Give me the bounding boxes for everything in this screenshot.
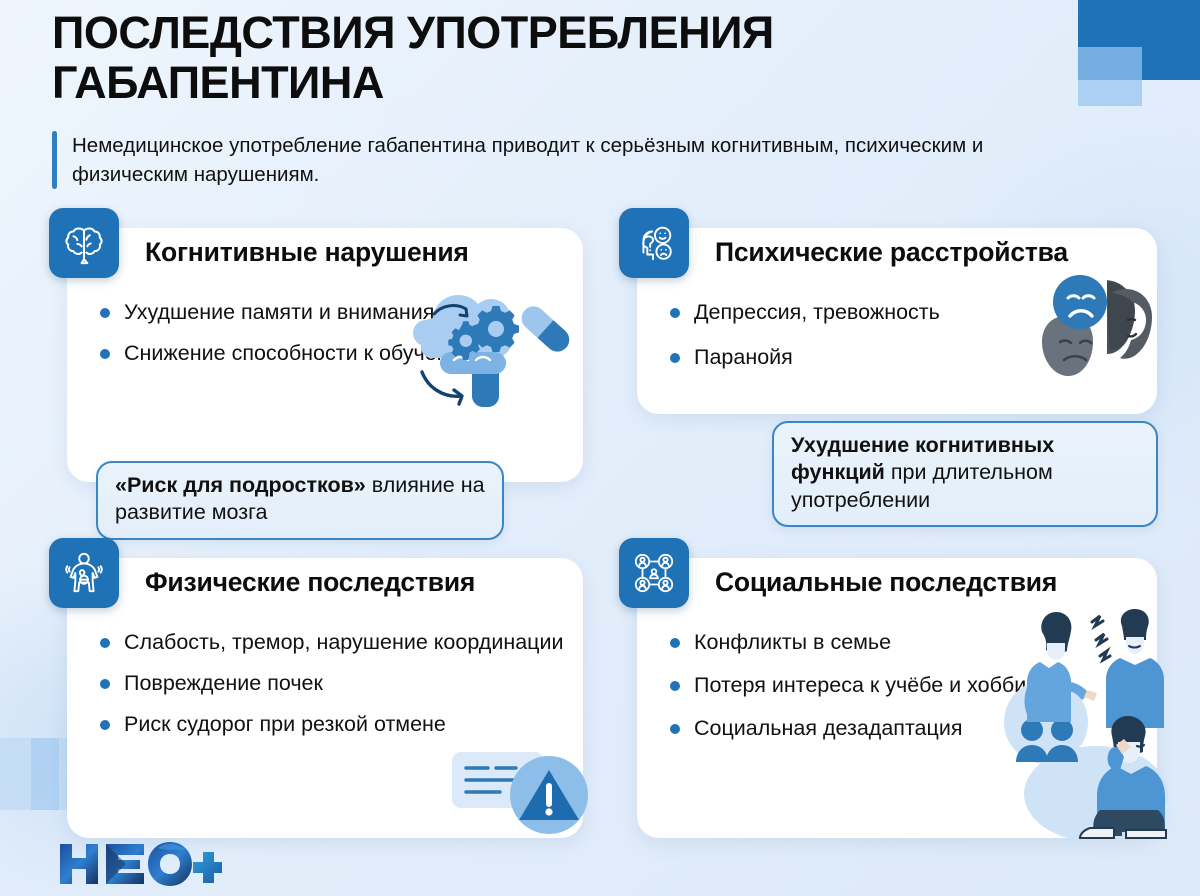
list-item: Конфликты в семье <box>668 628 1143 656</box>
decorative-square-bottom-left-2 <box>31 738 59 810</box>
list-item: Депрессия, тревожность <box>668 298 1143 326</box>
body-organs-icon <box>49 538 119 608</box>
decorative-square-light <box>1078 47 1142 106</box>
card-title: Физические последствия <box>145 567 475 598</box>
bullet-list: Слабость, тремор, нарушение координации … <box>98 628 569 751</box>
card-social-consequences: Социальные последствия Конфликты в семье… <box>637 558 1157 838</box>
page-title: ПОСЛЕДСТВИЯ УПОТРЕБЛЕНИЯ ГАБАПЕНТИНА <box>52 8 1052 109</box>
bullet-list: Ухудшение памяти и внимания Снижение спо… <box>98 298 569 380</box>
subtitle-accent-bar <box>52 131 57 189</box>
card-title: Психические расстройства <box>715 237 1068 268</box>
list-item: Ухудшение памяти и внимания <box>98 298 569 326</box>
list-item: Снижение способности к обучению <box>98 339 569 367</box>
subtitle-text: Немедицинское употребление габапентина п… <box>72 131 1012 189</box>
brain-icon <box>49 208 119 278</box>
callout-cognitive-decline: Ухудшение когнитивных функций при длител… <box>772 421 1158 527</box>
logo-neo-plus <box>58 840 222 888</box>
list-item: Риск судорог при резкой отмене <box>98 710 569 738</box>
card-physical-consequences: Физические последствия Слабость, тремор,… <box>67 558 583 838</box>
subtitle-block: Немедицинское употребление габапентина п… <box>52 131 1052 189</box>
callout-teen-risk: «Риск для подростков» влияние на развити… <box>96 461 504 540</box>
list-item: Потеря интереса к учёбе и хобби <box>668 671 1143 699</box>
card-cognitive-disorders: Когнитивные нарушения Ухудшение памяти и… <box>67 228 583 482</box>
card-mental-disorders: Психические расстройства Депрессия, трев… <box>637 228 1157 414</box>
bullet-list: Депрессия, тревожность Паранойя <box>668 298 1143 388</box>
head-emotions-icon <box>619 208 689 278</box>
callout-teen-risk-bold: «Риск для подростков» <box>115 473 366 497</box>
list-item: Социальная дезадаптация <box>668 714 1143 742</box>
card-title: Социальные последствия <box>715 567 1057 598</box>
people-network-icon <box>619 538 689 608</box>
list-item: Слабость, тремор, нарушение координации <box>98 628 569 656</box>
header: ПОСЛЕДСТВИЯ УПОТРЕБЛЕНИЯ ГАБАПЕНТИНА Нем… <box>52 8 1052 189</box>
card-title: Когнитивные нарушения <box>145 237 469 268</box>
list-item: Паранойя <box>668 343 1143 371</box>
list-item: Повреждение почек <box>98 669 569 697</box>
bullet-list: Конфликты в семье Потеря интереса к учёб… <box>668 628 1143 757</box>
